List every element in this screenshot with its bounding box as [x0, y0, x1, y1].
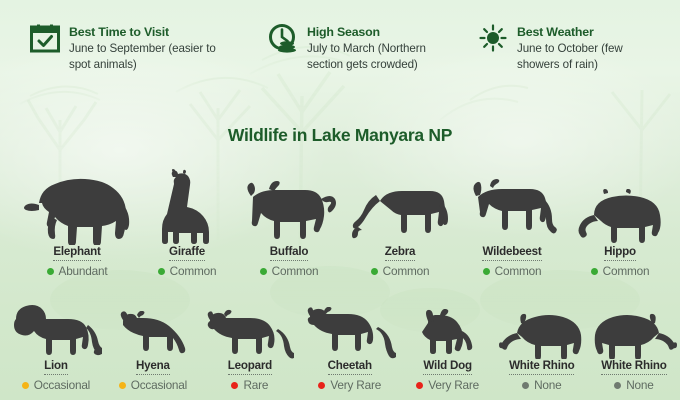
wildlife-infographic: Best Time to Visit June to September (ea…: [0, 0, 680, 400]
wildlife-status: Occasional: [22, 378, 90, 392]
wildlife-status: Very Rare: [318, 378, 381, 392]
fact-high-season: High Season July to March (Northern sect…: [268, 22, 468, 72]
wildlife-row-1: Elephant Abundant Giraffe Common: [0, 160, 680, 278]
wildlife-name: Leopard: [228, 359, 272, 375]
wildlife-name: Wildebeest: [482, 245, 541, 261]
status-label: None: [534, 378, 561, 392]
fact-best-time-to-visit: Best Time to Visit June to September (ea…: [30, 22, 240, 72]
wildlife-card-hippo: Hippo Common: [568, 160, 672, 278]
status-label: Common: [603, 264, 650, 278]
giraffe-silhouette: [157, 169, 217, 245]
status-dot: [22, 382, 29, 389]
status-dot: [371, 268, 378, 275]
fact-title: Best Weather: [517, 25, 594, 39]
wildlife-name: Hyena: [136, 359, 170, 375]
header-facts: Best Time to Visit June to September (ea…: [0, 0, 680, 92]
fact-text: June to September (easier to spot animal…: [69, 41, 219, 72]
wildlife-status: Occasional: [119, 378, 187, 392]
rhino-silhouette: [499, 309, 585, 359]
wildlife-name: Wild Dog: [423, 359, 472, 375]
status-dot: [522, 382, 529, 389]
status-dot: [119, 382, 126, 389]
status-label: Common: [170, 264, 217, 278]
wildlife-card-white-rhino-2: White Rhino None: [588, 282, 680, 392]
wildlife-name: Cheetah: [328, 359, 372, 375]
wildlife-status: Common: [260, 264, 319, 278]
status-label: None: [626, 378, 653, 392]
buffalo-silhouette: [241, 179, 337, 245]
hyena-silhouette: [115, 311, 191, 359]
wildlife-card-buffalo: Buffalo Common: [234, 160, 344, 278]
wildebeest-silhouette: [464, 177, 560, 245]
calendar-check-icon: [30, 23, 60, 53]
wildlife-card-white-rhino-1: White Rhino None: [496, 282, 588, 392]
zebra-silhouette: [350, 181, 450, 245]
status-label: Occasional: [34, 378, 90, 392]
status-label: Very Rare: [330, 378, 381, 392]
status-label: Very Rare: [428, 378, 479, 392]
sun-icon: [478, 23, 508, 53]
wildlife-name: White Rhino: [601, 359, 666, 375]
wildlife-status: Common: [158, 264, 217, 278]
wildlife-name: Giraffe: [169, 245, 205, 261]
page-title: Wildlife in Lake Manyara NP: [0, 125, 680, 146]
wildlife-name: Elephant: [53, 245, 100, 261]
wildlife-card-wild-dog: Wild Dog Very Rare: [400, 282, 496, 392]
elephant-silhouette: [21, 173, 133, 245]
status-dot: [231, 382, 238, 389]
status-label: Occasional: [131, 378, 187, 392]
status-dot: [614, 382, 621, 389]
wildlife-name: Zebra: [385, 245, 416, 261]
fact-text: July to March (Northern section gets cro…: [307, 41, 457, 72]
wildlife-status: Common: [591, 264, 650, 278]
status-dot: [483, 268, 490, 275]
wildlife-card-leopard: Leopard Rare: [200, 282, 300, 392]
wildlife-status: None: [522, 378, 561, 392]
status-dot: [158, 268, 165, 275]
hippo-silhouette: [574, 189, 666, 245]
fact-title: High Season: [307, 25, 380, 39]
wildlife-status: Rare: [231, 378, 268, 392]
status-dot: [591, 268, 598, 275]
wildlife-status: None: [614, 378, 653, 392]
wildlife-card-giraffe: Giraffe Common: [140, 160, 234, 278]
status-label: Abundant: [59, 264, 108, 278]
fact-title: Best Time to Visit: [69, 25, 169, 39]
wildlife-name: Buffalo: [270, 245, 309, 261]
cheetah-silhouette: [304, 307, 396, 359]
status-label: Common: [272, 264, 319, 278]
wildlife-card-elephant: Elephant Abundant: [14, 160, 140, 278]
wildlife-card-wildebeest: Wildebeest Common: [456, 160, 568, 278]
wildlife-status: Abundant: [47, 264, 108, 278]
wildlife-status: Very Rare: [416, 378, 479, 392]
clock-money-icon: [268, 23, 298, 53]
wild-dog-silhouette: [420, 309, 476, 359]
wildlife-card-lion: Lion Occasional: [6, 282, 106, 392]
wildlife-status: Common: [483, 264, 542, 278]
fact-text: June to October (few showers of rain): [517, 41, 667, 72]
status-label: Rare: [243, 378, 268, 392]
status-dot: [318, 382, 325, 389]
status-dot: [47, 268, 54, 275]
lion-silhouette: [10, 303, 102, 359]
status-dot: [260, 268, 267, 275]
wildlife-name: White Rhino: [509, 359, 574, 375]
status-label: Common: [383, 264, 430, 278]
wildlife-card-cheetah: Cheetah Very Rare: [300, 282, 400, 392]
leopard-silhouette: [206, 309, 294, 359]
fact-best-weather: Best Weather June to October (few shower…: [478, 22, 668, 72]
wildlife-name: Hippo: [604, 245, 636, 261]
status-label: Common: [495, 264, 542, 278]
rhino-silhouette-2: [591, 309, 677, 359]
wildlife-name: Lion: [44, 359, 68, 375]
wildlife-card-hyena: Hyena Occasional: [106, 282, 200, 392]
wildlife-status: Common: [371, 264, 430, 278]
status-dot: [416, 382, 423, 389]
wildlife-card-zebra: Zebra Common: [344, 160, 456, 278]
wildlife-row-2: Lion Occasional Hyena Occasional: [0, 282, 680, 392]
